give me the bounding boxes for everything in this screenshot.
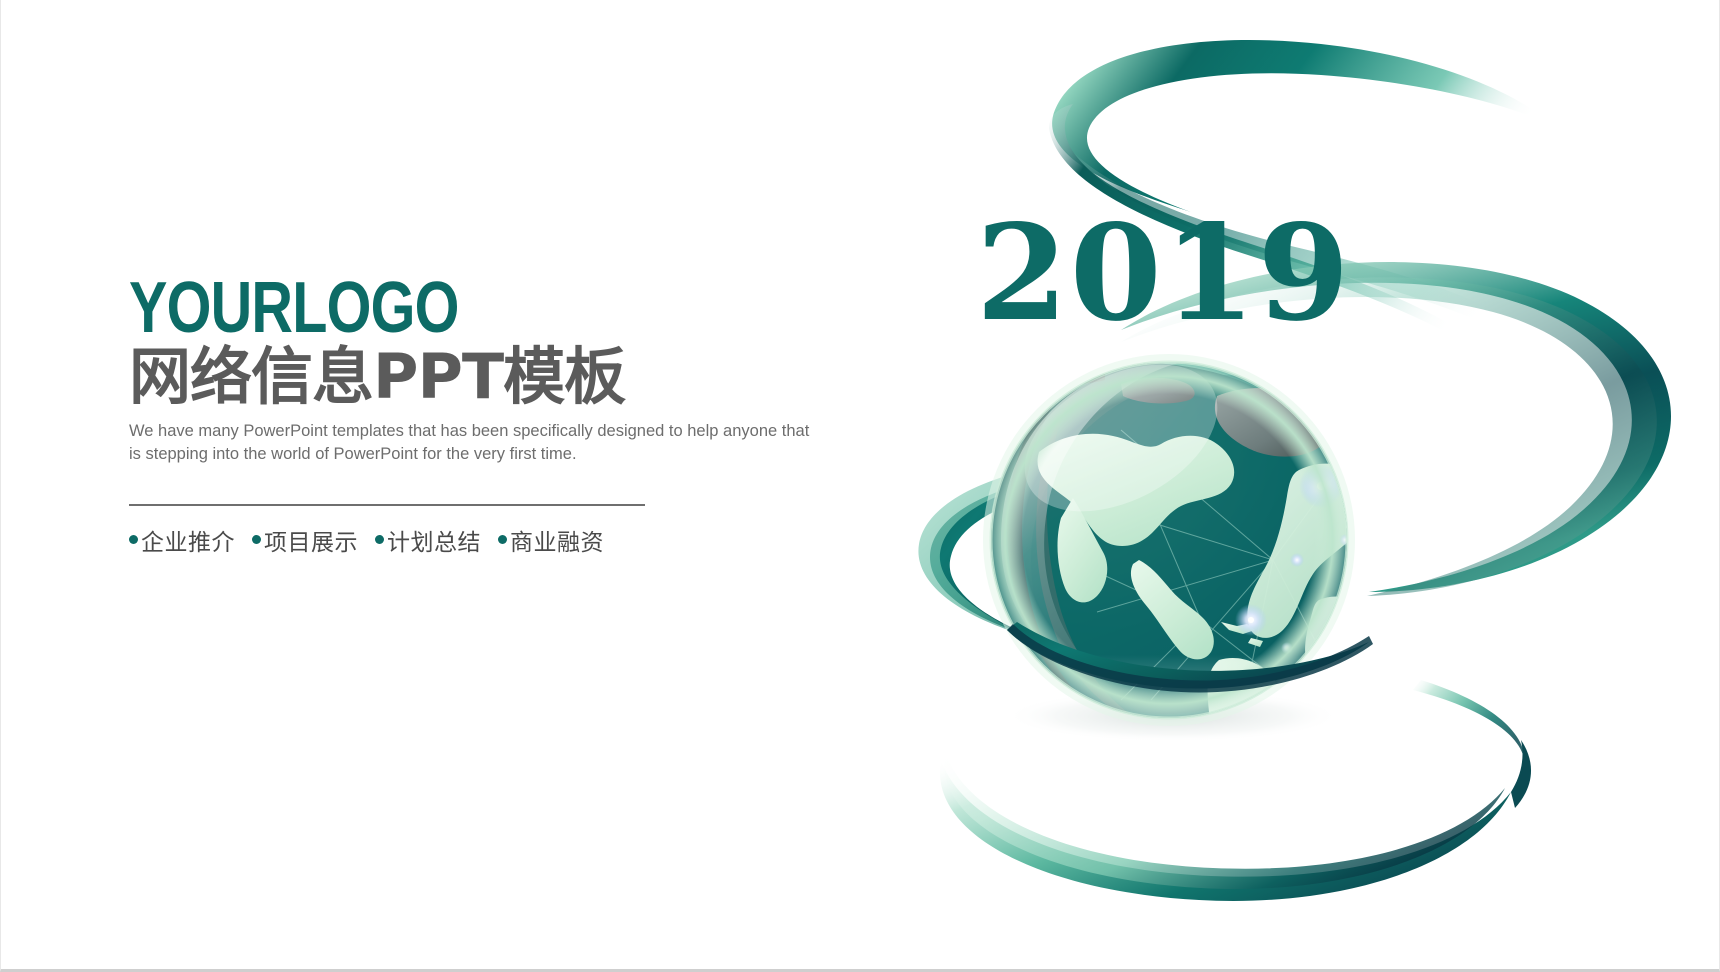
bullet-item-3: 商业融资 (498, 523, 604, 557)
title-text-block: YOURLOGO 网络信息PPT模板 We have many PowerPoi… (129, 278, 829, 557)
divider-line (129, 504, 645, 506)
bullet-label: 商业融资 (510, 523, 604, 557)
bullet-item-2: 计划总结 (375, 523, 481, 557)
logo-text: YOURLOGO (129, 278, 689, 340)
bullet-item-1: 项目展示 (252, 523, 358, 557)
bullet-item-0: 企业推介 (129, 523, 235, 557)
decorative-artwork (821, 0, 1720, 972)
bullet-dot-icon (252, 535, 261, 544)
year-heading: 2019 (976, 208, 1351, 340)
page-title: 网络信息PPT模板 (129, 346, 829, 408)
bullet-dot-icon (129, 535, 138, 544)
bullet-dot-icon (498, 535, 507, 544)
presentation-slide: 2019 YOURLOGO 网络信息PPT模板 We have many Pow… (0, 0, 1720, 972)
description-paragraph: We have many PowerPoint templates that h… (129, 420, 819, 467)
bullet-dot-icon (375, 535, 384, 544)
bullet-label: 项目展示 (264, 523, 358, 557)
bullet-label: 企业推介 (141, 523, 235, 557)
bullet-label: 计划总结 (387, 523, 481, 557)
globe-icon (983, 334, 1411, 836)
topic-bullet-list: 企业推介 项目展示 计划总结 商业融资 (129, 523, 829, 557)
